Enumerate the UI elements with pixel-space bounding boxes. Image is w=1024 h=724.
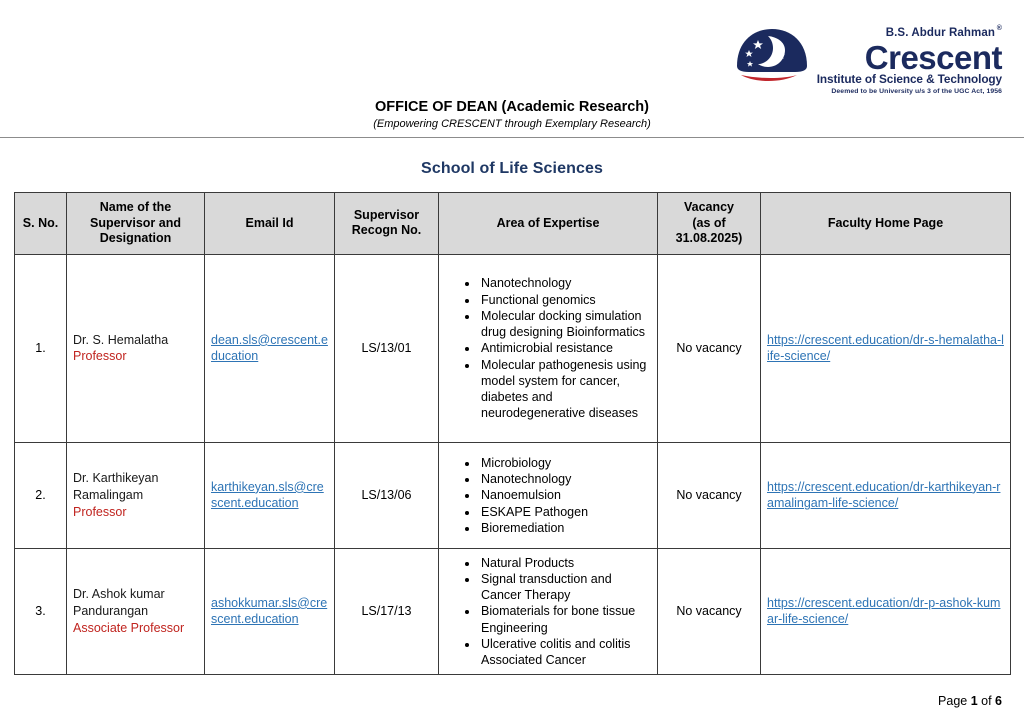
column-header-name: Name of the Supervisor and Designation [67, 193, 205, 255]
column-header-name-line-3: Designation [71, 231, 200, 247]
header-divider [0, 137, 1024, 138]
supervisor-name: Dr. S. Hemalatha [73, 332, 198, 349]
office-title: OFFICE OF DEAN (Academic Research) [0, 99, 1024, 115]
cell-recogn-no: LS/17/13 [335, 548, 439, 674]
cell-home-page: https://crescent.education/dr-s-hemalath… [761, 254, 1011, 442]
table-row: 2. Dr. Karthikeyan Ramalingam Professor … [15, 442, 1011, 548]
cell-sno: 1. [15, 254, 67, 442]
logo-tagline-top: B.S. Abdur Rahman® [886, 28, 1002, 40]
logo-wordmark: Crescent [865, 42, 1002, 73]
expertise-item: Bioremediation [479, 520, 651, 536]
expertise-item: ESKAPE Pathogen [479, 504, 651, 520]
supervisor-name: Dr. Karthikeyan Ramalingam [73, 470, 198, 503]
email-link[interactable]: karthikeyan.sls@crescent.education [211, 480, 324, 511]
column-header-recogn: Supervisor Recogn No. [335, 193, 439, 255]
supervisor-name: Dr. Ashok kumar Pandurangan [73, 586, 198, 619]
column-header-email-line-1: Email Id [209, 216, 330, 232]
expertise-item: Molecular docking simulation drug design… [479, 308, 651, 341]
page-footer: Page 1 of 6 [938, 694, 1002, 708]
email-link[interactable]: dean.sls@crescent.education [211, 333, 328, 364]
faculty-home-page-link[interactable]: https://crescent.education/dr-s-hemalath… [767, 333, 1004, 364]
column-header-vacancy-line-2: (as of [662, 216, 756, 232]
cell-home-page: https://crescent.education/dr-p-ashok-ku… [761, 548, 1011, 674]
expertise-item: Natural Products [479, 555, 651, 571]
expertise-item: Nanotechnology [479, 275, 651, 291]
faculty-table: S. No. Name of the Supervisor and Design… [14, 192, 1011, 675]
cell-sno: 3. [15, 548, 67, 674]
column-header-recogn-line-1: Supervisor [339, 208, 434, 224]
cell-vacancy: No vacancy [658, 442, 761, 548]
page-header: B.S. Abdur Rahman® Crescent Institute of… [0, 0, 1024, 138]
column-header-home-line-1: Faculty Home Page [765, 216, 1006, 232]
table-header-row: S. No. Name of the Supervisor and Design… [15, 193, 1011, 255]
faculty-home-page-link[interactable]: https://crescent.education/dr-karthikeya… [767, 480, 1000, 511]
table-row: 1. Dr. S. Hemalatha Professor dean.sls@c… [15, 254, 1011, 442]
column-header-vacancy-line-1: Vacancy [662, 200, 756, 216]
supervisor-designation: Professor [73, 348, 198, 365]
crescent-logo-text: B.S. Abdur Rahman® Crescent Institute of… [817, 26, 1002, 95]
expertise-item: Molecular pathogenesis using model syste… [479, 357, 651, 422]
cell-email: dean.sls@crescent.education [205, 254, 335, 442]
column-header-sno: S. No. [15, 193, 67, 255]
supervisor-designation: Professor [73, 504, 198, 521]
supervisor-designation: Associate Professor [73, 620, 198, 637]
registered-trademark-icon: ® [997, 25, 1002, 32]
logo-subtitle: Institute of Science & Technology [817, 74, 1002, 86]
cell-area-of-expertise: Nanotechnology Functional genomics Molec… [439, 254, 658, 442]
document-page: B.S. Abdur Rahman® Crescent Institute of… [0, 0, 1024, 724]
column-header-home: Faculty Home Page [761, 193, 1011, 255]
expertise-item: Biomaterials for bone tissue Engineering [479, 603, 651, 636]
footer-page-middle: of [978, 694, 995, 708]
cell-home-page: https://crescent.education/dr-karthikeya… [761, 442, 1011, 548]
email-link[interactable]: ashokkumar.sls@crescent.education [211, 596, 327, 627]
cell-name: Dr. Ashok kumar Pandurangan Associate Pr… [67, 548, 205, 674]
page-title: School of Life Sciences [0, 160, 1024, 178]
expertise-list: Nanotechnology Functional genomics Molec… [445, 275, 651, 421]
table-header: S. No. Name of the Supervisor and Design… [15, 193, 1011, 255]
column-header-name-line-1: Name of the [71, 200, 200, 216]
cell-recogn-no: LS/13/01 [335, 254, 439, 442]
cell-area-of-expertise: Natural Products Signal transduction and… [439, 548, 658, 674]
expertise-item: Nanoemulsion [479, 487, 651, 503]
expertise-item: Nanotechnology [479, 471, 651, 487]
faculty-home-page-link[interactable]: https://crescent.education/dr-p-ashok-ku… [767, 596, 1000, 627]
logo-tagline-top-text: B.S. Abdur Rahman [886, 27, 995, 39]
cell-name: Dr. S. Hemalatha Professor [67, 254, 205, 442]
cell-name: Dr. Karthikeyan Ramalingam Professor [67, 442, 205, 548]
office-subtitle: (Empowering CRESCENT through Exemplary R… [0, 118, 1024, 130]
column-header-area-line-1: Area of Expertise [443, 216, 653, 232]
logo-deemed-line: Deemed to be University u/s 3 of the UGC… [831, 89, 1002, 96]
expertise-item: Ulcerative colitis and colitis Associate… [479, 636, 651, 669]
cell-email: karthikeyan.sls@crescent.education [205, 442, 335, 548]
column-header-vacancy: Vacancy (as of 31.08.2025) [658, 193, 761, 255]
expertise-list: Natural Products Signal transduction and… [445, 555, 651, 669]
column-header-vacancy-line-3: 31.08.2025) [662, 231, 756, 247]
expertise-item: Functional genomics [479, 292, 651, 308]
cell-vacancy: No vacancy [658, 548, 761, 674]
column-header-area: Area of Expertise [439, 193, 658, 255]
expertise-item: Microbiology [479, 455, 651, 471]
table-row: 3. Dr. Ashok kumar Pandurangan Associate… [15, 548, 1011, 674]
table-body: 1. Dr. S. Hemalatha Professor dean.sls@c… [15, 254, 1011, 674]
column-header-email: Email Id [205, 193, 335, 255]
cell-area-of-expertise: Microbiology Nanotechnology Nanoemulsion… [439, 442, 658, 548]
expertise-item: Signal transduction and Cancer Therapy [479, 571, 651, 604]
footer-page-total: 6 [995, 694, 1002, 708]
cell-sno: 2. [15, 442, 67, 548]
expertise-item: Antimicrobial resistance [479, 340, 651, 356]
cell-vacancy: No vacancy [658, 254, 761, 442]
column-header-recogn-line-2: Recogn No. [339, 223, 434, 239]
expertise-list: Microbiology Nanotechnology Nanoemulsion… [445, 455, 651, 536]
cell-recogn-no: LS/13/06 [335, 442, 439, 548]
cell-email: ashokkumar.sls@crescent.education [205, 548, 335, 674]
column-header-sno-line-1: S. No. [19, 216, 62, 232]
footer-page-number: 1 [971, 694, 978, 708]
column-header-name-line-2: Supervisor and [71, 216, 200, 232]
crescent-emblem-icon [735, 26, 809, 84]
faculty-table-container: S. No. Name of the Supervisor and Design… [0, 192, 1024, 675]
crescent-logo: B.S. Abdur Rahman® Crescent Institute of… [735, 26, 1002, 95]
footer-page-prefix: Page [938, 694, 971, 708]
